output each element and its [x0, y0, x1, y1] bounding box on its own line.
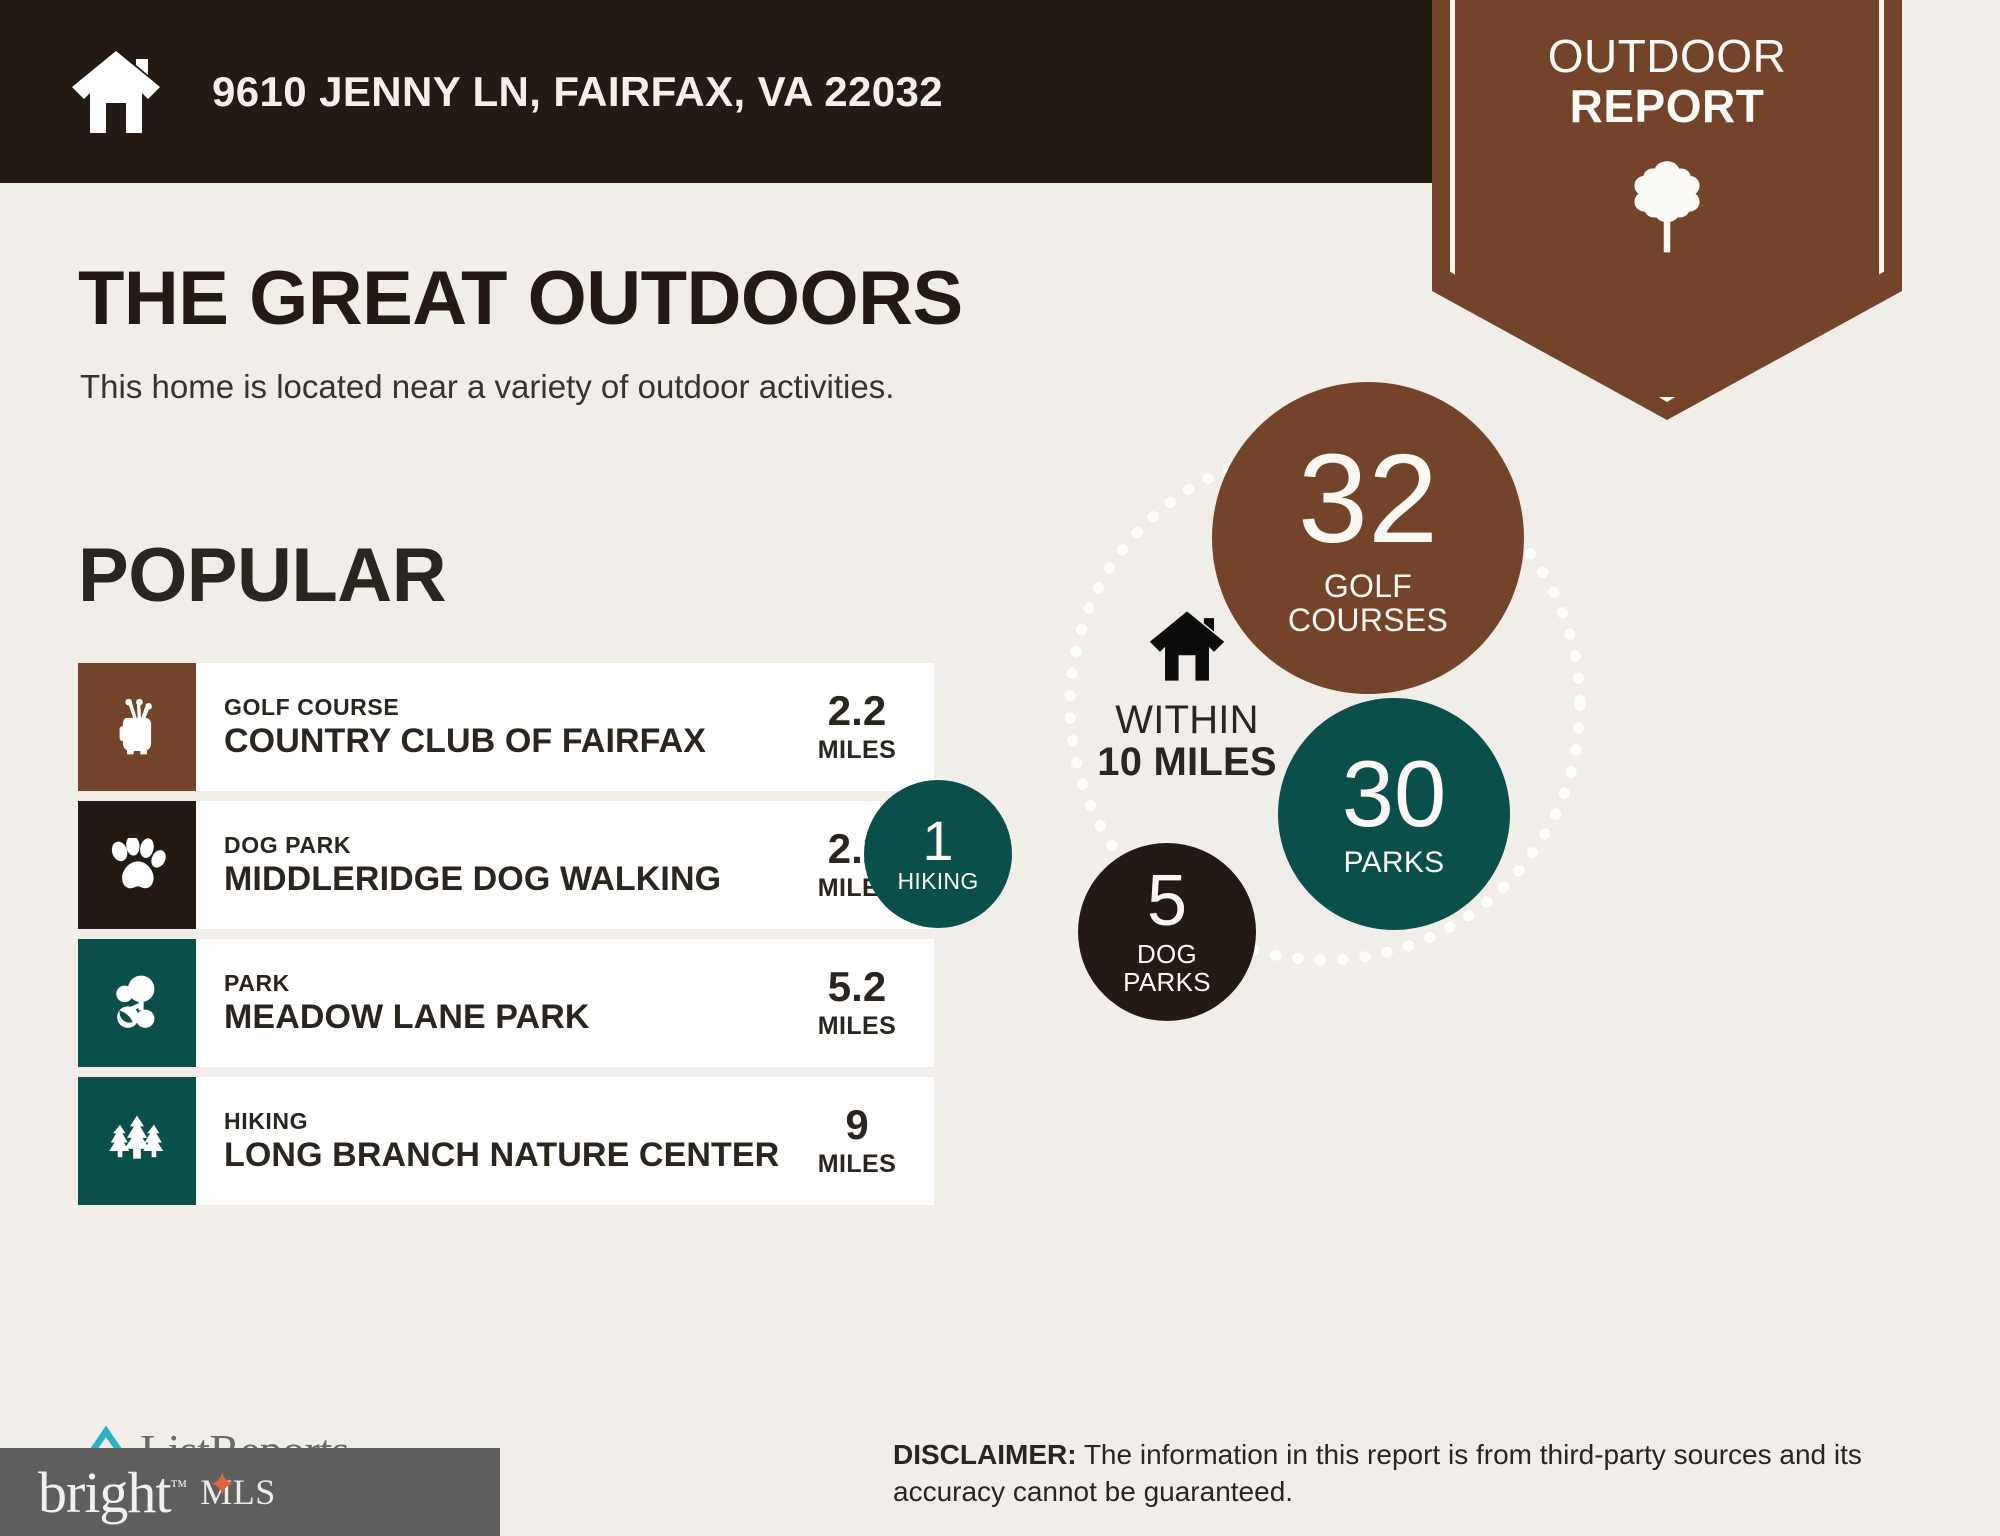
distance-value: 5.2 — [828, 966, 886, 1008]
list-item-info: PARK MEADOW LANE PARK — [196, 939, 794, 1067]
home-icon — [1148, 608, 1226, 689]
list-item-distance: 9 MILES — [794, 1077, 934, 1205]
bubble-dog-parks[interactable]: 5 DOG PARKS — [1078, 843, 1256, 1021]
list-item[interactable]: DOG PARK MIDDLERIDGE DOG WALKING 2.2 MIL… — [78, 801, 934, 929]
bright-wordmark: bright™ ✦ — [38, 1459, 186, 1526]
bubble-count: 32 — [1298, 439, 1438, 559]
bubble-count: 5 — [1147, 867, 1187, 935]
popular-list: GOLF COURSE COUNTRY CLUB OF FAIRFAX 2.2 … — [78, 663, 934, 1215]
bubble-hiking[interactable]: 1 HIKING — [864, 780, 1012, 928]
amenities-diagram: 32 GOLF COURSES 30 PARKS 5 DOG PARKS 1 H… — [1060, 440, 1700, 1100]
list-item-name: LONG BRANCH NATURE CENTER — [224, 1138, 794, 1174]
disclaimer: DISCLAIMER: The information in this repo… — [893, 1437, 1933, 1511]
badge-line1: OUTDOOR — [1548, 30, 1787, 82]
list-item-info: GOLF COURSE COUNTRY CLUB OF FAIRFAX — [196, 663, 794, 791]
list-item-info: DOG PARK MIDDLERIDGE DOG WALKING — [196, 801, 794, 929]
distance-unit: MILES — [818, 1012, 896, 1041]
outdoor-report-badge: OUTDOOR REPORT — [1432, 0, 1902, 420]
home-icon — [70, 47, 162, 137]
bubble-label-line1: GOLF — [1324, 568, 1412, 604]
header-bar: 9610 JENNY LN, FAIRFAX, VA 22032 — [0, 0, 1510, 183]
bubble-count: 30 — [1342, 749, 1447, 838]
list-item-category: DOG PARK — [224, 832, 794, 859]
golf-bag-icon — [78, 663, 196, 791]
bright-mls-watermark: bright™ ✦ MLS — [0, 1448, 500, 1536]
list-item-name: COUNTRY CLUB OF FAIRFAX — [224, 724, 794, 760]
park-trees-icon — [78, 939, 196, 1067]
list-item-name: MIDDLERIDGE DOG WALKING — [224, 862, 794, 898]
list-item-distance: 2.2 MILES — [794, 663, 934, 791]
list-item-name: MEADOW LANE PARK — [224, 1000, 794, 1036]
bubble-label-line1: DOG — [1137, 939, 1197, 969]
bright-tm: ™ — [171, 1476, 187, 1495]
page-subtitle: This home is located near a variety of o… — [80, 368, 894, 406]
bubble-count: 1 — [922, 814, 953, 867]
bright-word-text: bright — [38, 1460, 171, 1525]
list-item[interactable]: HIKING LONG BRANCH NATURE CENTER 9 MILES — [78, 1077, 934, 1205]
badge-text: OUTDOOR REPORT — [1432, 32, 1902, 131]
distance-value: 2.2 — [828, 690, 886, 732]
bright-star-icon: ✦ — [208, 1469, 236, 1503]
list-item[interactable]: PARK MEADOW LANE PARK 5.2 MILES — [78, 939, 934, 1067]
section-title-popular: POPULAR — [78, 532, 446, 619]
pine-trees-icon — [78, 1077, 196, 1205]
list-item-category: HIKING — [224, 1108, 794, 1135]
center-line1: WITHIN — [1097, 699, 1276, 741]
distance-unit: MILES — [818, 736, 896, 765]
property-address: 9610 JENNY LN, FAIRFAX, VA 22032 — [212, 68, 943, 116]
bubble-label: PARKS — [1344, 847, 1445, 879]
list-item[interactable]: GOLF COURSE COUNTRY CLUB OF FAIRFAX 2.2 … — [78, 663, 934, 791]
diagram-center: WITHIN 10 MILES — [1042, 608, 1332, 783]
badge-line2: REPORT — [1432, 82, 1902, 132]
center-line2: 10 MILES — [1097, 741, 1276, 783]
list-item-info: HIKING LONG BRANCH NATURE CENTER — [196, 1077, 794, 1205]
bubble-label: HIKING — [897, 869, 978, 894]
tree-icon — [1432, 158, 1902, 254]
list-item-distance: 5.2 MILES — [794, 939, 934, 1067]
distance-value: 9 — [845, 1104, 868, 1146]
disclaimer-label: DISCLAIMER: — [893, 1439, 1077, 1470]
list-item-category: GOLF COURSE — [224, 694, 794, 721]
page-title: THE GREAT OUTDOORS — [78, 255, 963, 342]
paw-print-icon — [78, 801, 196, 929]
center-caption: WITHIN 10 MILES — [1097, 699, 1276, 783]
distance-unit: MILES — [818, 1150, 896, 1179]
bubble-label: DOG PARKS — [1123, 941, 1211, 997]
bubble-label-line2: PARKS — [1123, 967, 1211, 997]
list-item-category: PARK — [224, 970, 794, 997]
